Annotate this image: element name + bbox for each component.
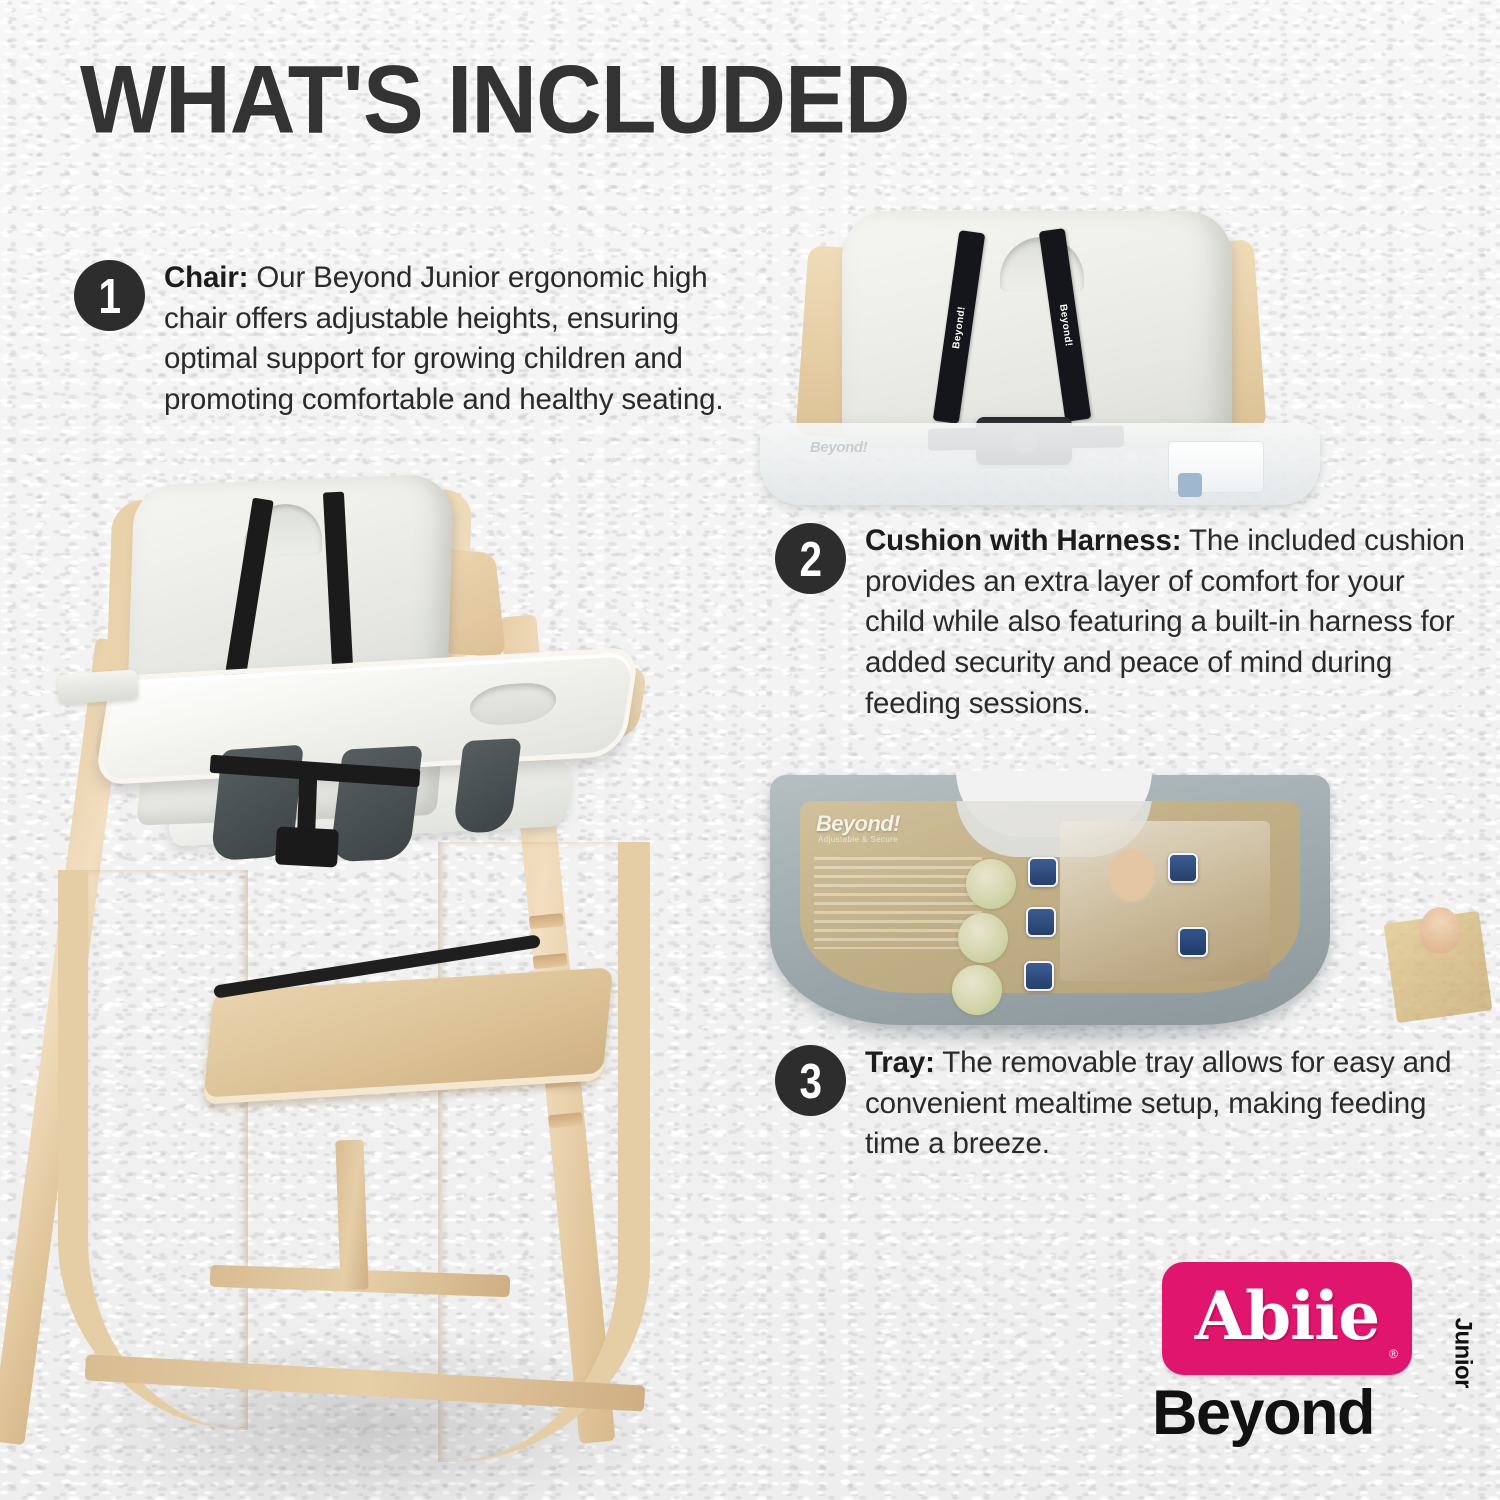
cushion-tray-brand-label: Beyond! — [810, 439, 867, 456]
logo-wordmark-beyond: Beyond — [1152, 1382, 1374, 1445]
feature-text: Chair: Our Beyond Junior ergonomic high … — [164, 258, 764, 421]
tray-feature-icon-eco-friendly — [1178, 927, 1208, 957]
feature-body: The removable tray allows for easy and c… — [865, 1046, 1451, 1160]
chair-harness-buckle — [275, 826, 339, 867]
page-title: WHAT'S INCLUDED — [80, 52, 910, 148]
feature-heading: Cushion with Harness: — [865, 524, 1181, 557]
strap-brand-label: Beyond! — [1057, 303, 1074, 347]
feature-number-badge: 3 — [775, 1045, 846, 1116]
product-photo-chair — [30, 440, 730, 1500]
feature-text: Cushion with Harness: The included cushi… — [865, 521, 1465, 725]
lifestyle-baby — [1420, 907, 1460, 953]
tray-insert-thumbnail — [958, 913, 1008, 963]
strap-brand-label: Beyond! — [951, 305, 968, 349]
feature-number-badge: 1 — [74, 260, 145, 331]
feature-item-tray: 3 Tray: The removable tray allows for ea… — [775, 1043, 1475, 1165]
feature-number: 3 — [799, 1056, 822, 1105]
feature-number: 2 — [799, 534, 822, 583]
tray-insert-brand: Beyond! — [816, 811, 900, 837]
chair-arc-leg-right — [470, 842, 650, 1462]
logo-wordmark-junior: Junior — [1448, 1318, 1476, 1388]
feature-number-badge: 2 — [775, 523, 846, 594]
feature-number: 1 — [98, 271, 121, 320]
tray-feature-icon-harness — [1026, 907, 1056, 937]
feature-item-chair: 1 Chair: Our Beyond Junior ergonomic hig… — [74, 258, 764, 421]
logo-pill-background: Abiie ® — [1162, 1262, 1412, 1375]
chair-arc-leg-left — [58, 870, 218, 1430]
cushion-pad — [842, 211, 1232, 447]
logo-wordmark-abiie: Abiie — [1195, 1283, 1380, 1349]
feature-item-cushion: 2 Cushion with Harness: The included cus… — [775, 521, 1475, 725]
chair-tray-clip — [57, 669, 139, 705]
feature-body: Our Beyond Junior ergonomic high chair o… — [164, 261, 723, 416]
tray-feature-icon-dishwasher — [1028, 857, 1058, 887]
tray-insert-thumbnail — [952, 965, 1002, 1015]
feature-heading: Tray: — [865, 1046, 935, 1079]
tray-insert-subtitle: Adjustable & Secure — [818, 835, 898, 844]
tray-feature-icon-easy-clean — [1168, 853, 1198, 883]
tray-insert-lifestyle-photo — [1060, 821, 1270, 981]
feature-heading: Chair: — [164, 261, 248, 294]
chair-center-post — [335, 1140, 368, 1291]
tray-insert-body-text — [814, 857, 982, 949]
brand-logo: Abiie ® Beyond Junior — [1152, 1262, 1472, 1472]
registered-trademark-icon: ® — [1389, 1347, 1398, 1361]
tray-feature-icon-bpa-free — [1024, 961, 1054, 991]
feature-text: Tray: The removable tray allows for easy… — [865, 1043, 1465, 1165]
cushion-tray-insert-icon — [1178, 473, 1202, 497]
product-photo-cushion: Beyond! Beyond! Beyond! — [760, 205, 1340, 505]
product-photo-tray: Beyond! Adjustable & Secure — [770, 775, 1330, 1050]
tray-insert-thumbnail — [966, 859, 1016, 909]
